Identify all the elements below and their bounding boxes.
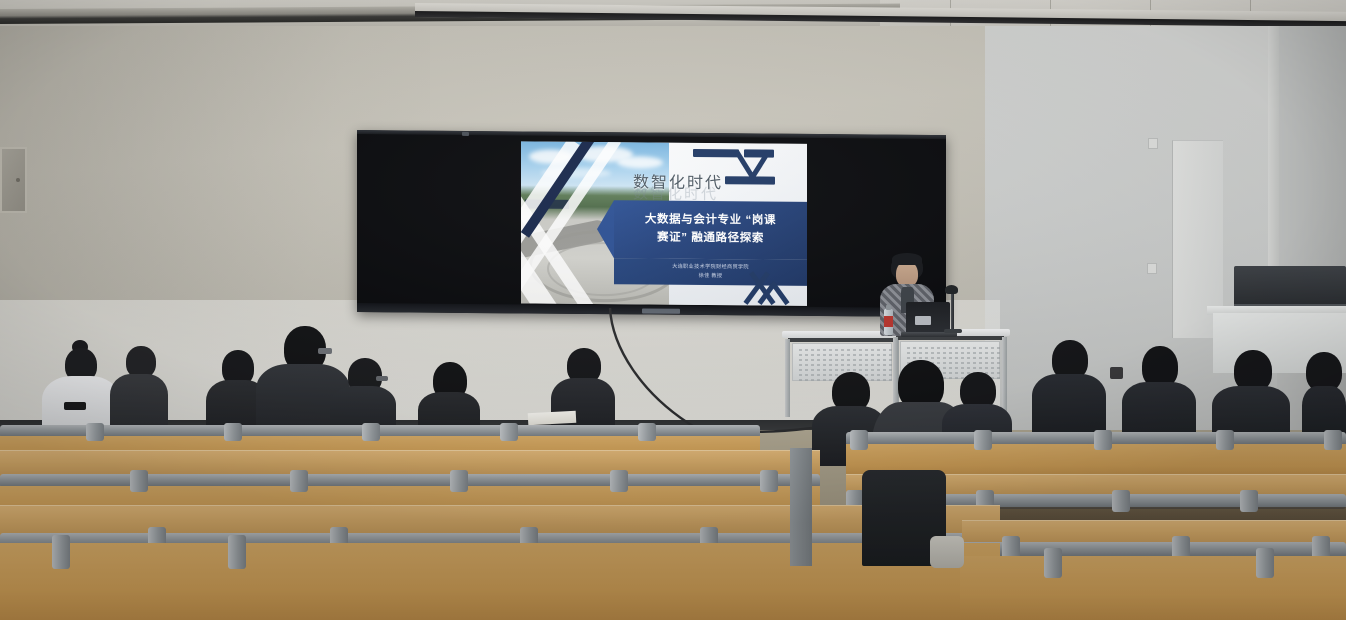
bag-on-seat: [930, 536, 964, 568]
desk-front-panel: [960, 556, 1346, 620]
desk-post: [86, 423, 104, 441]
desk-post: [850, 430, 868, 450]
laptop-sticker: [915, 316, 931, 325]
desk-front-panel: [0, 543, 1000, 620]
desk-post: [1216, 430, 1234, 450]
desk-post: [1044, 548, 1062, 578]
desk-post: [974, 430, 992, 450]
aisle-seat-divider: [790, 448, 812, 566]
lecture-hall-photo: 数智化时代 数智化时代 大数据与会计专业 “岗课 赛证” 融通路径探索 大连职业…: [0, 0, 1346, 620]
desk-post: [638, 423, 656, 441]
slide-title-line-2: 赛证” 融通路径探索: [614, 228, 807, 246]
microphone-stand: [951, 289, 954, 331]
wall-electrical-panel: [0, 147, 27, 213]
slide-header: 数智化时代: [633, 168, 723, 193]
microphone-head: [945, 285, 958, 294]
desk-post: [1240, 490, 1258, 512]
desk-post: [228, 535, 246, 569]
slide-chevron-top-icon: [726, 151, 782, 181]
desk-post: [362, 423, 380, 441]
desk-post: [130, 470, 148, 492]
audience-person-11: [1032, 340, 1106, 438]
desk-post: [52, 535, 70, 569]
desk-row-4: [0, 543, 1000, 620]
desk-row-right-4: [960, 556, 1346, 620]
torso: [110, 374, 168, 432]
display-ir-sensor: [462, 132, 469, 136]
desk-post: [500, 423, 518, 441]
slide-title-band: 大数据与会计专业 “岗课 赛证” 融通路径探索: [614, 200, 807, 260]
wall-mounted-display[interactable]: 数智化时代 数智化时代 大数据与会计专业 “岗课 赛证” 融通路径探索 大连职业…: [357, 130, 946, 317]
slide-title-line-1: 大数据与会计专业 “岗课: [614, 210, 807, 228]
eyeglasses: [376, 376, 388, 381]
desk-top: [0, 450, 820, 476]
desk-post: [1094, 430, 1112, 450]
paper-on-desk: [528, 411, 577, 425]
jacket-logo: [64, 402, 86, 410]
desk-post: [224, 423, 242, 441]
desk-post: [1112, 490, 1130, 512]
desk-post: [290, 470, 308, 492]
desk-post: [760, 470, 778, 492]
microphone-base: [944, 329, 962, 333]
dark-av-equipment-cabinet: [1234, 266, 1346, 306]
wall-outlet-upper: [1148, 138, 1158, 149]
water-bottle-label: [884, 316, 893, 327]
water-bottle-cap: [886, 305, 891, 310]
desk-post: [1256, 548, 1274, 578]
desk-post: [1324, 430, 1342, 450]
wall-outlet-lower: [1147, 263, 1157, 274]
presentation-slide: 数智化时代 数智化时代 大数据与会计专业 “岗课 赛证” 融通路径探索 大连职业…: [521, 141, 807, 305]
desk-post: [450, 470, 468, 492]
presenter-hair-front: [892, 253, 922, 265]
desk-post: [610, 470, 628, 492]
slide-chevron-bottom-icon: [737, 269, 803, 304]
torso: [1032, 374, 1106, 438]
audience-person-12: [1122, 346, 1196, 442]
